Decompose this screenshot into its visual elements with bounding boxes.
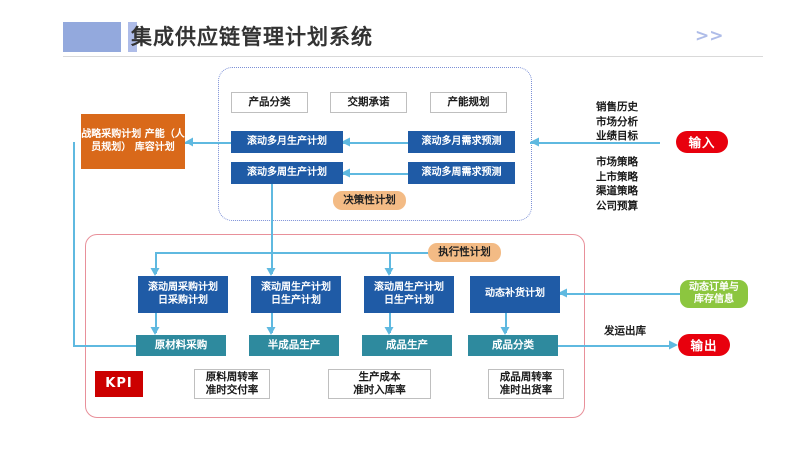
- kpi-box-0[interactable]: 原料周转率 准时交付率: [194, 369, 270, 399]
- connector-branch-3: [389, 252, 391, 274]
- connector-output: [558, 345, 670, 347]
- input-group-1-label: 销售历史 市场分析 业绩目标: [596, 100, 638, 144]
- kpi-box-2[interactable]: 成品周转率 准时出货率: [488, 369, 564, 399]
- decision-top-box-1[interactable]: 交期承诺: [330, 92, 407, 113]
- connector-weekly-down: [271, 181, 273, 252]
- connector-execution-bus: [155, 252, 435, 254]
- header-accent-square: [63, 22, 121, 52]
- operation-box-0[interactable]: 原材料采购: [136, 335, 226, 356]
- execution-plan-pill: 执行性计划: [428, 243, 501, 262]
- page-title: 集成供应链管理计划系统: [131, 20, 631, 54]
- connector-plan-op-3: [389, 313, 391, 333]
- kpi-box-1[interactable]: 生产成本 准时入库率: [328, 369, 431, 399]
- connector-monthly-forecast: [343, 142, 408, 144]
- execution-plan-box-2[interactable]: 滚动周生产计划 日生产计划: [364, 276, 454, 313]
- connector-input-right: [530, 142, 660, 144]
- operation-box-2[interactable]: 成品生产: [362, 335, 452, 356]
- rolling-monthly-demand-forecast[interactable]: 滚动多月需求预测: [408, 131, 515, 153]
- kpi-badge: KPI: [95, 371, 143, 397]
- shipping-label: 发运出库: [604, 324, 646, 339]
- decision-plan-pill: 决策性计划: [333, 191, 406, 210]
- connector-order-info: [560, 293, 680, 295]
- execution-plan-box-0[interactable]: 滚动周采购计划 日采购计划: [138, 276, 228, 313]
- arrowhead-output: [669, 341, 678, 350]
- execution-plan-box-1[interactable]: 滚动周生产计划 日生产计划: [251, 276, 341, 313]
- connector-strategy-loop-v: [73, 142, 75, 346]
- rolling-weekly-production-plan[interactable]: 滚动多周生产计划: [231, 162, 343, 184]
- rolling-monthly-production-plan[interactable]: 滚动多月生产计划: [231, 131, 343, 153]
- order-inventory-info-pill[interactable]: 动态订单与 库存信息: [680, 280, 748, 308]
- strategy-procurement-box[interactable]: 战略采购计划 产能（人员规划） 库容计划: [81, 114, 185, 169]
- rolling-weekly-demand-forecast[interactable]: 滚动多周需求预测: [408, 162, 515, 184]
- connector-weekly-forecast: [343, 173, 408, 175]
- decision-top-box-0[interactable]: 产品分类: [231, 92, 308, 113]
- decision-top-box-2[interactable]: 产能规划: [430, 92, 507, 113]
- connector-plan-op-2: [271, 313, 273, 333]
- input-pill[interactable]: 输入: [676, 131, 728, 153]
- operation-box-1[interactable]: 半成品生产: [249, 335, 339, 356]
- input-group-2-label: 市场策略 上市策略 渠道策略 公司预算: [596, 155, 638, 213]
- connector-strategy-monthly: [185, 142, 234, 144]
- operation-box-3[interactable]: 成品分类: [468, 335, 558, 356]
- execution-plan-box-3[interactable]: 动态补货计划: [470, 276, 560, 313]
- output-pill[interactable]: 输出: [678, 334, 730, 356]
- header-divider: [63, 56, 763, 57]
- connector-branch-1: [155, 252, 157, 274]
- connector-strategy-loop-h: [73, 345, 136, 347]
- slide-canvas: 集成供应链管理计划系统 >>: [0, 0, 800, 452]
- connector-plan-op-4: [505, 313, 507, 333]
- chevron-right-icon[interactable]: >>: [695, 28, 724, 45]
- connector-branch-2: [271, 252, 273, 274]
- connector-plan-op-1: [155, 313, 157, 333]
